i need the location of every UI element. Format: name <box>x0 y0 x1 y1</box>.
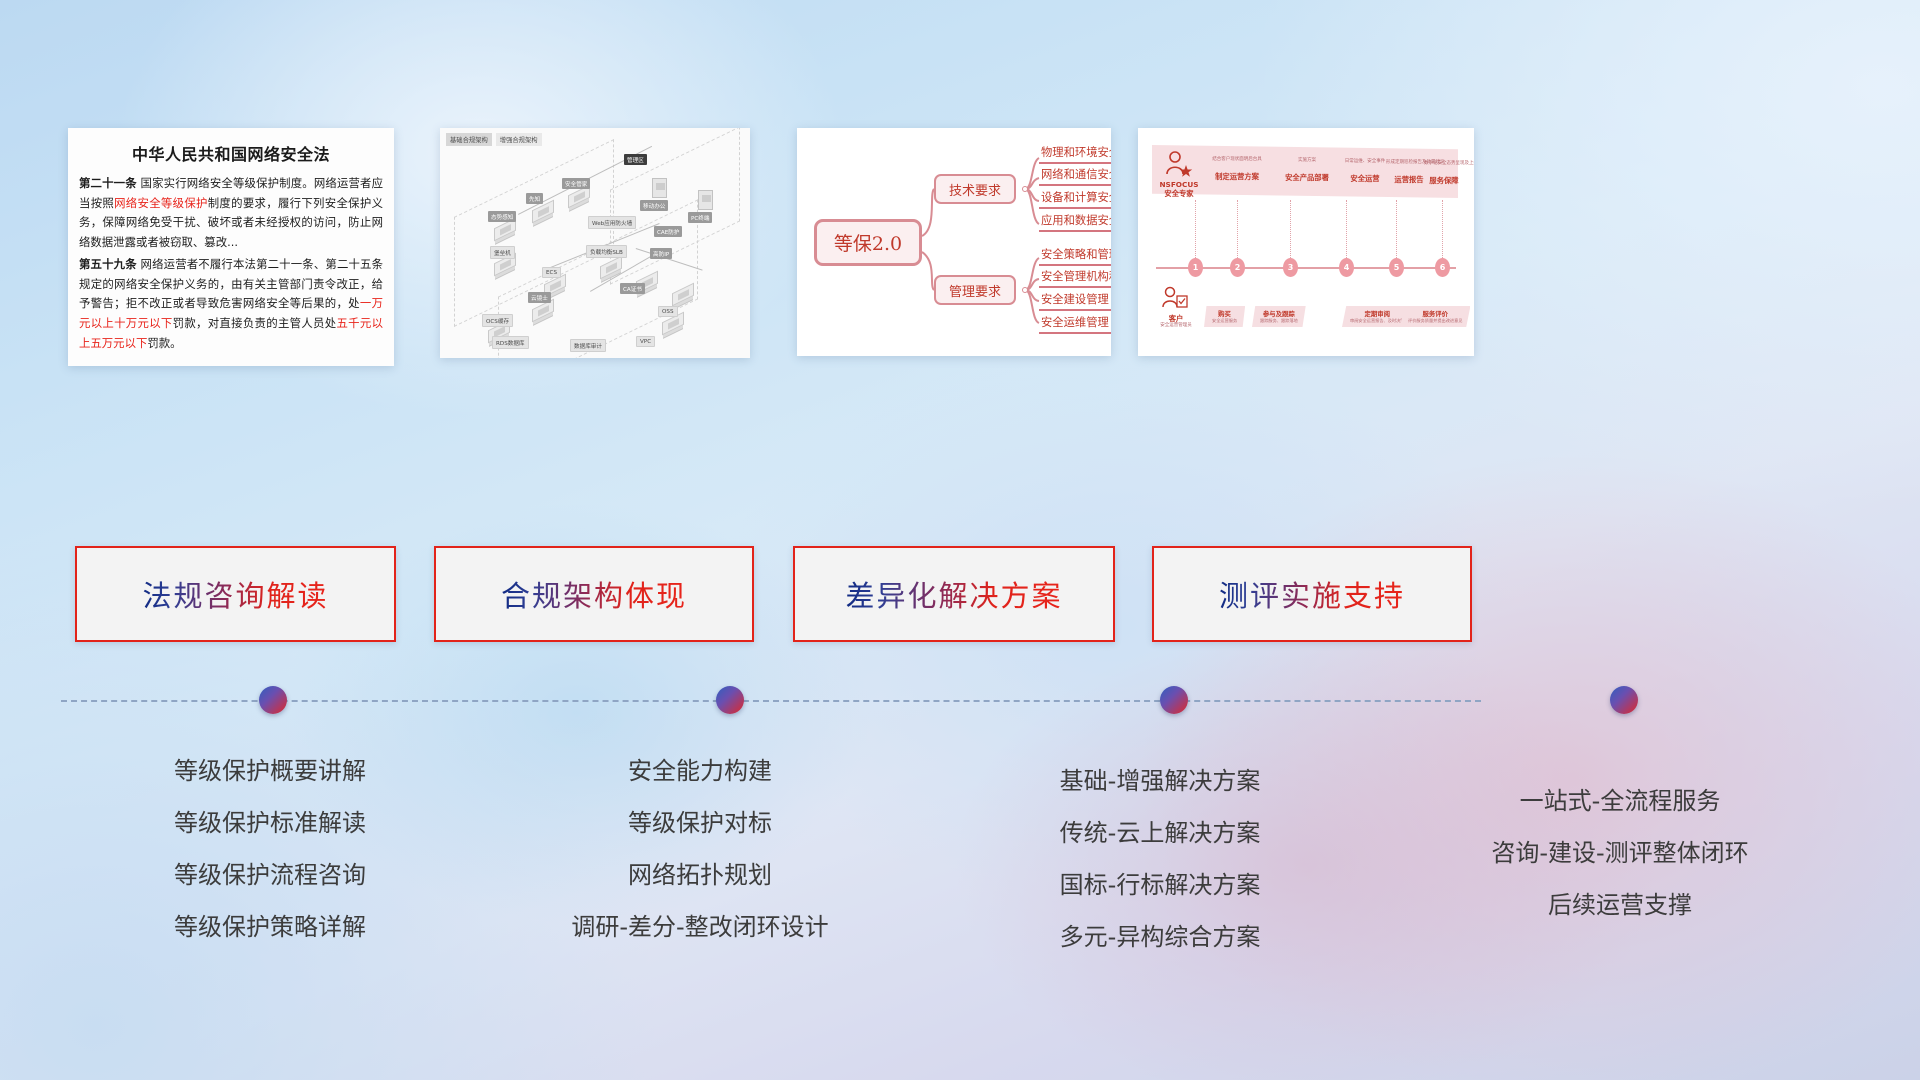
section-title-box-4[interactable]: 测评实施支持 <box>1152 546 1472 642</box>
card-law-document[interactable]: 中华人民共和国网络安全法 第二十一条 国家实行网络安全等级保护制度。网络运营者应… <box>68 128 394 366</box>
list-item: 传统-云上解决方案 <box>950 807 1370 859</box>
list-item: 咨询-建设-测评整体闭环 <box>1400 827 1840 879</box>
timeline-dash <box>1290 200 1291 258</box>
list-item: 等级保护标准解读 <box>60 797 480 849</box>
arch-node-ecs: ECS <box>542 267 561 278</box>
section-title-label: 测评实施支持 <box>1219 573 1405 615</box>
mindmap-branch-management: 管理要求 <box>934 275 1016 305</box>
timeline-dash <box>1396 200 1397 258</box>
list-item: 基础-增强解决方案 <box>950 755 1370 807</box>
timeline-marker-3[interactable] <box>1160 686 1188 714</box>
timeline-node-4[interactable]: 4 <box>1339 258 1354 277</box>
arch-node-ca-cert: CA证书 <box>620 283 645 294</box>
timeline-dash <box>1346 200 1347 258</box>
timeline-dash <box>1237 200 1238 258</box>
tag-caption: 跟踪服务、跟踪落地 <box>1260 318 1298 324</box>
card-mindmap[interactable]: 等保2.0 技术要求 管理要求 物理和环境安全 网络和通信安全 设备和计算安全 <box>797 128 1111 356</box>
law-article-21-highlight: 网络安全等级保护 <box>114 196 208 210</box>
arch-node-security-butler: 安全管家 <box>562 178 590 189</box>
timeline-node-6[interactable]: 6 <box>1435 258 1450 277</box>
arch-node-vpc: VPC <box>636 336 655 347</box>
timeline-marker-4[interactable] <box>1610 686 1638 714</box>
law-article-59: 第五十九条 网络运营者不履行本法第二十一条、第二十五条规定的网络安全保护义务的，… <box>79 255 383 354</box>
architecture-tabs: 基础合规架构 增强合规架构 <box>446 133 542 146</box>
mindmap-leaf: 设备和计算安全 <box>1039 191 1111 209</box>
timeline-step-label: 安全产品部署 <box>1278 173 1336 183</box>
section-title-label: 合规架构体现 <box>501 573 687 615</box>
tag-title: 购买 <box>1212 309 1237 318</box>
law-body: 第二十一条 国家实行网络安全等级保护制度。网络运营者应当按照网络安全等级保护制度… <box>68 174 394 353</box>
timeline-bottom-tag: 购买 安全运营服务 <box>1204 306 1245 327</box>
timeline-node-2[interactable]: 2 <box>1230 258 1245 277</box>
list-item: 安全能力构建 <box>490 745 910 797</box>
list-item: 等级保护流程咨询 <box>60 849 480 901</box>
mindmap-leaf: 安全策略和管理制度 <box>1039 248 1111 266</box>
timeline-step-cell: 实施方案 安全产品部署 <box>1278 159 1336 183</box>
mindmap-leaf: 应用和数据安全 <box>1039 214 1111 232</box>
law-article-59-text-2: 罚款，对直接负责的主管人员处 <box>173 316 337 330</box>
timeline-bottom-tag: 服务评价 评价服务质量并提出改进意见 <box>1400 306 1470 327</box>
law-article-21-label: 第二十一条 <box>79 176 137 190</box>
timeline-node-5[interactable]: 5 <box>1389 258 1404 277</box>
arch-node-situational-awareness: 态势感知 <box>488 211 516 222</box>
arch-rack-mobile <box>652 178 667 198</box>
section-items-col-2: 安全能力构建 等级保护对标 网络拓扑规划 调研-差分-整改闭环设计 <box>490 745 910 953</box>
timeline-dash <box>1442 200 1443 258</box>
expert-brand: NSFOCUS <box>1156 180 1202 189</box>
arch-node-xianzhi: 先知 <box>526 193 543 204</box>
timeline-step-label: 服务保障 <box>1424 176 1464 186</box>
mindmap-node-dot[interactable] <box>1022 186 1028 192</box>
timeline-node-1[interactable]: 1 <box>1188 258 1203 277</box>
law-article-21: 第二十一条 国家实行网络安全等级保护制度。网络运营者应当按照网络安全等级保护制度… <box>79 174 383 253</box>
customer-cell: 客户 安全运营管理员 <box>1154 314 1198 329</box>
arch-node-high-defense-ip: 高防IP <box>650 248 672 259</box>
arch-node-pc-terminal: PC终端 <box>688 212 712 223</box>
list-item: 等级保护对标 <box>490 797 910 849</box>
expert-person-icon <box>1160 150 1196 184</box>
list-item: 后续运营支撑 <box>1400 879 1840 931</box>
arch-node-cae: CAE防护 <box>654 226 682 237</box>
preview-cards-row: 中华人民共和国网络安全法 第二十一条 国家实行网络安全等级保护制度。网络运营者应… <box>0 128 1920 366</box>
timeline-dash <box>1195 200 1196 258</box>
arch-rack-pc <box>698 190 713 210</box>
arch-node-rds: RDS数据库 <box>492 336 529 349</box>
mindmap-leaf: 网络和通信安全 <box>1039 168 1111 186</box>
law-article-59-text-3: 罚款。 <box>147 336 181 350</box>
arch-node-slb: 负载均衡SLB <box>586 245 627 258</box>
architecture-tab-basic[interactable]: 基础合规架构 <box>446 133 492 146</box>
arch-node-oss: OSS <box>658 306 678 317</box>
mindmap-leaf: 安全管理机构和人员 <box>1039 270 1111 288</box>
timeline-step-caption: 实施方案 <box>1278 159 1336 164</box>
section-title-box-3[interactable]: 差异化解决方案 <box>793 546 1115 642</box>
list-item: 等级保护策略详解 <box>60 901 480 953</box>
mindmap-leaf: 安全建设管理 <box>1039 293 1111 311</box>
timeline-step-cell: 结合客户现状面明后台具 制定运营方案 <box>1204 158 1270 182</box>
timeline-marker-2[interactable] <box>716 686 744 714</box>
section-items-col-1: 等级保护概要讲解 等级保护标准解读 等级保护流程咨询 等级保护策略详解 <box>60 745 480 953</box>
arch-node-db-audit: 数据库审计 <box>570 339 606 352</box>
section-items-col-3: 基础-增强解决方案 传统-云上解决方案 国标-行标解决方案 多元-异构综合方案 <box>950 755 1370 963</box>
timeline-canvas: NSFOCUS 安全专家 结合客户现状面明后台具 制定运营方案 实施方案 安全产… <box>1138 128 1474 356</box>
law-article-59-label: 第五十九条 <box>79 257 137 271</box>
arch-node-mobile-office: 移动办公 <box>640 200 668 211</box>
customer-caption: 安全运营管理员 <box>1154 324 1198 329</box>
mindmap-leaf: 物理和环境安全 <box>1039 146 1111 164</box>
section-title-label: 法规咨询解读 <box>142 573 328 615</box>
tag-caption: 安全运营服务 <box>1212 318 1237 324</box>
arch-node-yunjingshi: 云镜士 <box>528 292 551 303</box>
list-item: 多元-异构综合方案 <box>950 911 1370 963</box>
timeline-node-3[interactable]: 3 <box>1283 258 1298 277</box>
timeline-marker-1[interactable] <box>259 686 287 714</box>
card-service-timeline[interactable]: NSFOCUS 安全专家 结合客户现状面明后台具 制定运营方案 实施方案 安全产… <box>1138 128 1474 356</box>
section-title-box-2[interactable]: 合规架构体现 <box>434 546 754 642</box>
arch-node-mgmt-zone: 管理区 <box>624 154 647 165</box>
list-item: 国标-行标解决方案 <box>950 859 1370 911</box>
tag-caption: 评价服务质量并提出改进意见 <box>1408 318 1462 324</box>
card-architecture-diagram[interactable]: 基础合规架构 增强合规架构 管理区 安全管家 先知 态势感知 堡垒机 ECS 云… <box>440 128 750 358</box>
expert-cell: NSFOCUS 安全专家 <box>1156 180 1202 199</box>
timeline-bottom-tag: 参与及跟踪 跟踪服务、跟踪落地 <box>1252 306 1306 327</box>
list-item: 等级保护概要讲解 <box>60 745 480 797</box>
tag-title: 参与及跟踪 <box>1260 309 1298 318</box>
tag-title: 定期审阅 <box>1350 309 1404 318</box>
expert-role: 安全专家 <box>1156 189 1202 199</box>
arch-node-bastion: 堡垒机 <box>490 246 515 259</box>
mindmap-canvas: 等保2.0 技术要求 管理要求 物理和环境安全 网络和通信安全 设备和计算安全 <box>797 128 1111 356</box>
mindmap-leaf: 安全运维管理 <box>1039 316 1111 334</box>
arch-node-waf: Web应用防火墙 <box>588 216 636 229</box>
list-item: 调研-差分-整改闭环设计 <box>490 901 910 953</box>
section-title-row: 法规咨询解读 合规架构体现 差异化解决方案 测评实施支持 <box>0 546 1920 642</box>
list-item: 网络拓扑规划 <box>490 849 910 901</box>
timeline-step-caption: 数字化安全态势呈现及上报安全运营报告 <box>1424 162 1464 167</box>
timeline-step-label: 制定运营方案 <box>1204 172 1270 182</box>
architecture-tab-enhanced[interactable]: 增强合规架构 <box>496 133 542 146</box>
arch-node-ocs-cache: OCS缓存 <box>482 314 513 327</box>
section-title-label: 差异化解决方案 <box>845 573 1062 615</box>
mindmap-branch-technical: 技术要求 <box>934 174 1016 204</box>
list-item: 一站式-全流程服务 <box>1400 775 1840 827</box>
architecture-canvas: 基础合规架构 增强合规架构 管理区 安全管家 先知 态势感知 堡垒机 ECS 云… <box>440 128 750 358</box>
tag-caption: 审阅安全运营报告、及时决策 <box>1350 318 1404 324</box>
timeline-step-cell: 数字化安全态势呈现及上报安全运营报告 服务保障 <box>1424 162 1464 186</box>
section-title-box-1[interactable]: 法规咨询解读 <box>75 546 396 642</box>
law-title: 中华人民共和国网络安全法 <box>68 128 394 174</box>
mindmap-node-dot[interactable] <box>1022 287 1028 293</box>
tag-title: 服务评价 <box>1408 309 1462 318</box>
section-items-col-4: 一站式-全流程服务 咨询-建设-测评整体闭环 后续运营支撑 <box>1400 775 1840 931</box>
timeline-step-caption: 结合客户现状面明后台具 <box>1204 158 1270 163</box>
customer-person-icon <box>1158 286 1190 316</box>
